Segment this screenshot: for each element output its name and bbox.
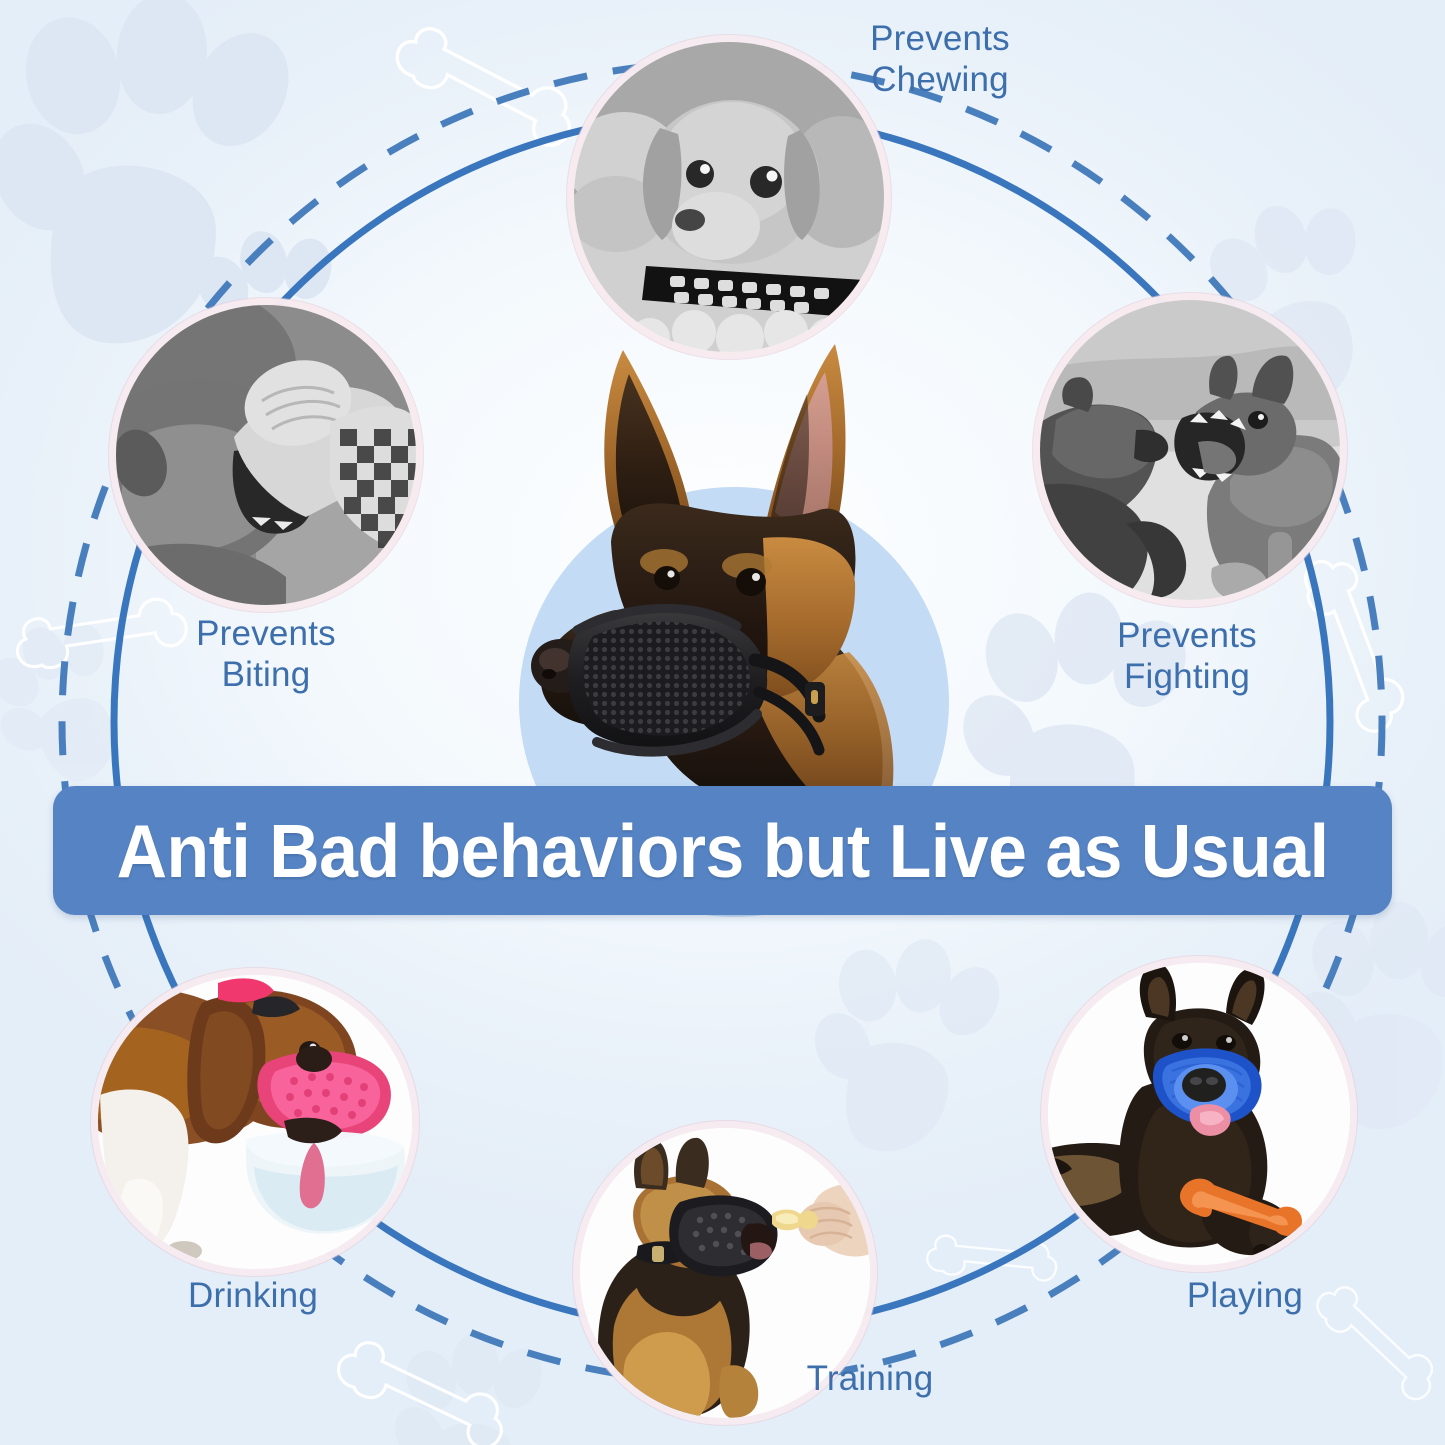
dog-biting-arm-photo [116,305,416,605]
node-drinking[interactable] [98,975,412,1269]
label-prevents-chewing: Prevents Chewing [790,18,1090,101]
label-prevents-fighting: Prevents Fighting [1037,615,1337,698]
label-playing: Playing [1100,1275,1390,1316]
headline-banner: Anti Bad behaviors but Live as Usual [53,786,1392,915]
beagle-drinking-photo [98,975,412,1269]
node-prevents-fighting[interactable] [1040,300,1340,600]
infographic-canvas: Prevents Chewing [0,0,1445,1445]
node-prevents-biting[interactable] [116,305,416,605]
label-drinking: Drinking [108,1275,398,1316]
malinois-playing-photo [1048,963,1350,1265]
center-dog-image [519,330,955,800]
dogs-fighting-photo [1040,300,1340,600]
label-prevents-biting: Prevents Biting [116,613,416,696]
node-playing[interactable] [1048,963,1350,1265]
headline-text: Anti Bad behaviors but Live as Usual [117,808,1329,894]
label-training: Training [720,1358,1020,1399]
